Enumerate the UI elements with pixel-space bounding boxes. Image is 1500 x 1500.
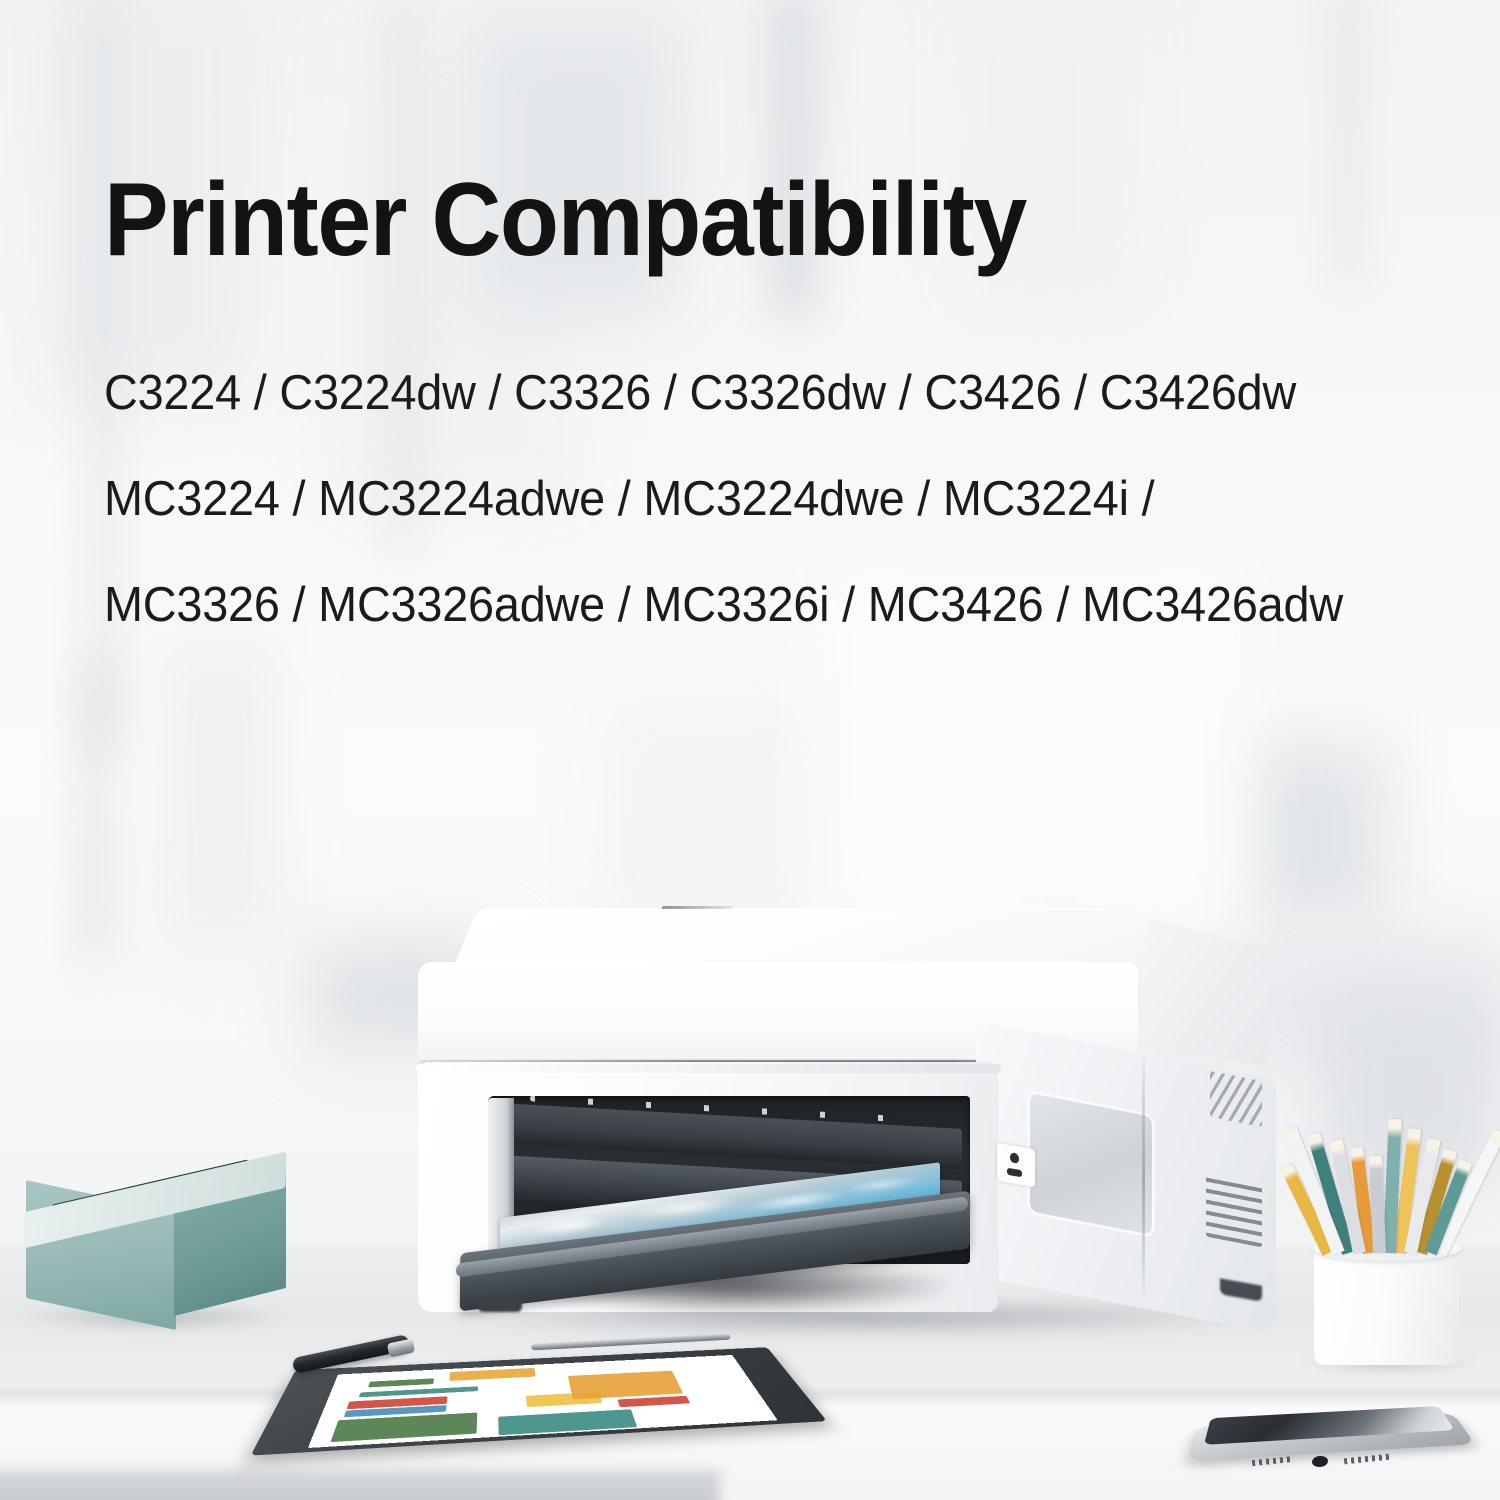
green-text-block xyxy=(368,1378,434,1387)
bg-cabinet-lower-left xyxy=(160,640,280,950)
smartphone-speaker-grill-right xyxy=(1344,1454,1390,1465)
pencil xyxy=(1369,1156,1386,1253)
clipboard-metal-clip[interactable] xyxy=(531,1333,732,1350)
model-line-2: MC3224 / MC3224adwe / MC3224dwe / MC3224… xyxy=(104,446,1365,552)
center-graphic xyxy=(568,1371,683,1400)
teal-text-block xyxy=(359,1386,478,1397)
bg-board-left xyxy=(86,660,102,960)
smartphone-charging-port xyxy=(1311,1455,1328,1468)
pencil-cup-body xyxy=(1314,1245,1459,1365)
printer-front-lip xyxy=(416,1064,1001,1073)
model-line-1: C3224 / C3224dw / C3326 / C3326dw / C342… xyxy=(104,340,1365,446)
smartphone[interactable] xyxy=(1196,1396,1486,1492)
smartphone-speaker-grill-left xyxy=(1252,1456,1294,1466)
printer-side-window xyxy=(1030,1093,1152,1235)
teal-desk-box xyxy=(18,1168,278,1338)
clipboard-with-document xyxy=(276,1318,846,1488)
product-compatibility-graphic: Printer Compatibility C3224 / C3224dw / … xyxy=(0,0,1500,1500)
printer-control-panel[interactable] xyxy=(997,1143,1035,1188)
printer-foot-left xyxy=(478,1298,522,1312)
printer-photo xyxy=(400,900,1320,1330)
pencil-cup xyxy=(1288,1075,1500,1365)
printer-vent-bottom xyxy=(1206,1173,1262,1248)
printer-vent-top xyxy=(1210,1071,1262,1127)
red-icon-row xyxy=(617,1396,690,1407)
printer-side-seam xyxy=(1142,1058,1145,1297)
page-title: Printer Compatibility xyxy=(104,166,1026,274)
bg-divider-right xyxy=(1342,0,1354,290)
orange-header-bar xyxy=(449,1368,535,1381)
green-text-block xyxy=(330,1413,477,1443)
compatible-models-list: C3224 / C3224dw / C3326 / C3326dw / C342… xyxy=(104,340,1424,658)
printer-lid-seam xyxy=(661,906,732,909)
model-line-3: MC3326 / MC3326adwe / MC3326i / MC3426 /… xyxy=(104,552,1365,658)
